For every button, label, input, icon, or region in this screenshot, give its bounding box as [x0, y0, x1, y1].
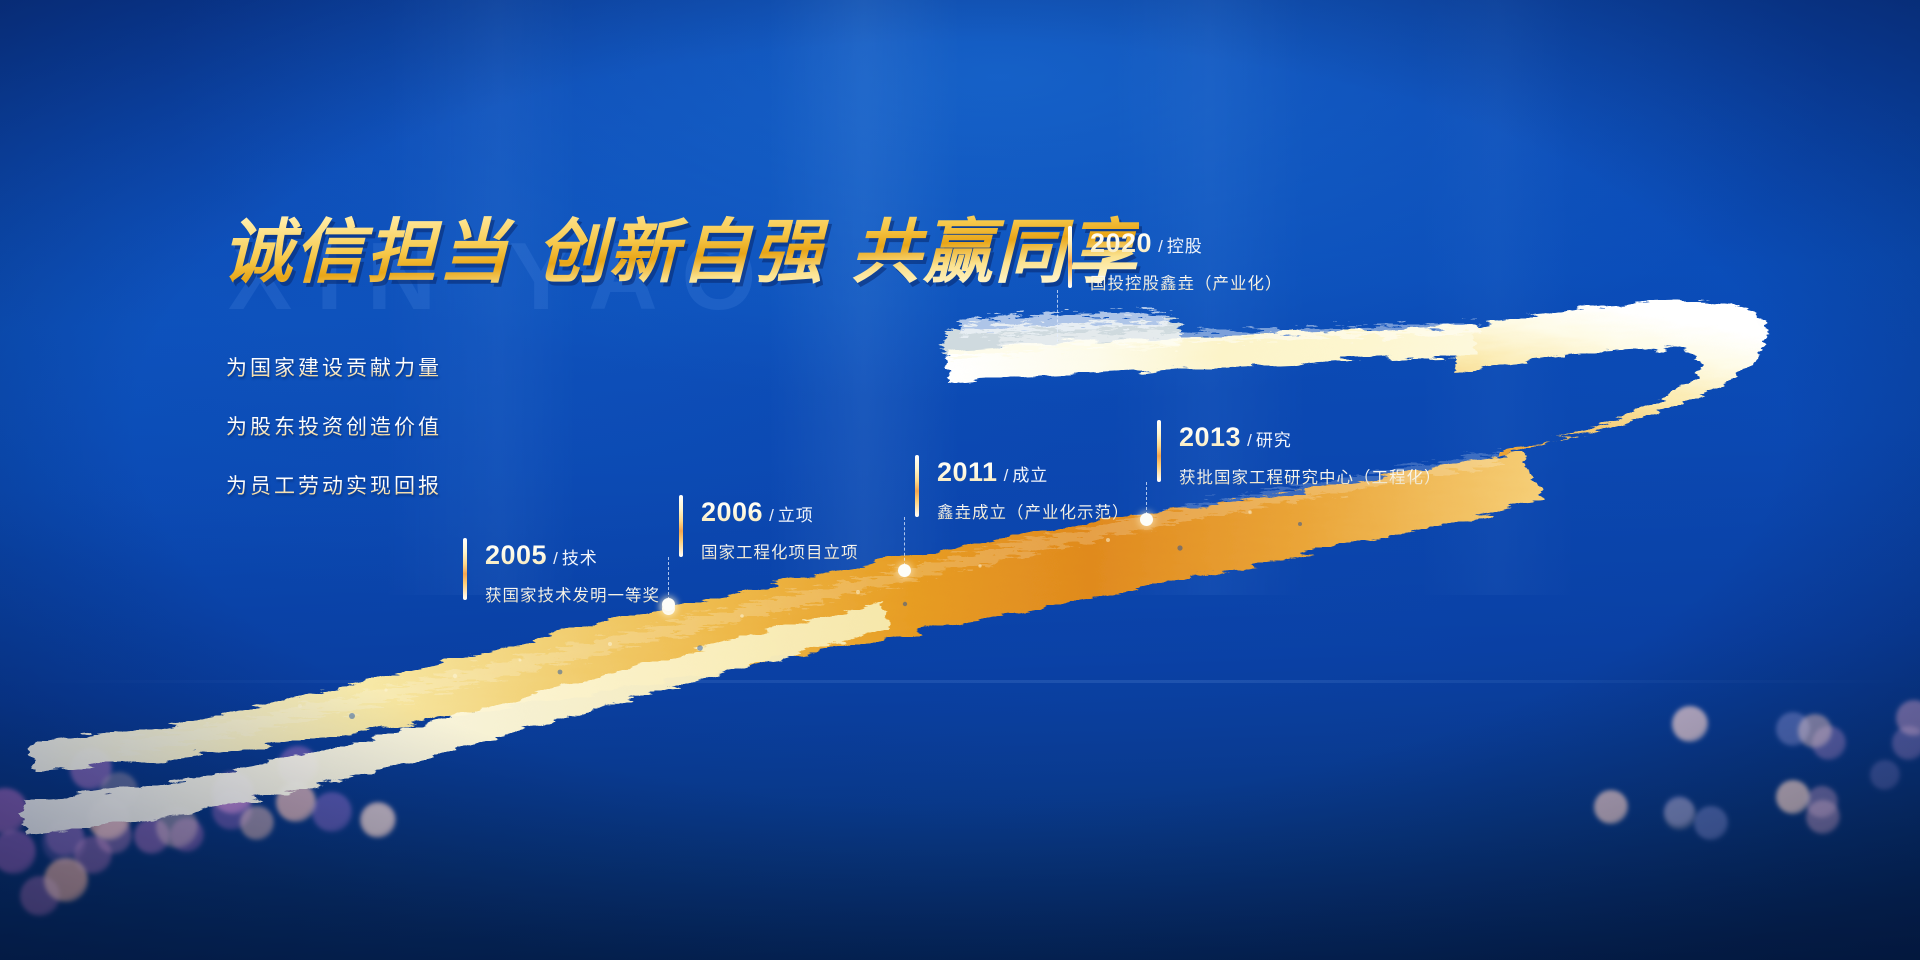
bokeh-circle	[1672, 706, 1708, 742]
bokeh-circle	[100, 772, 138, 810]
milestone-category: 技术	[562, 549, 598, 568]
milestone-separator: /	[1004, 466, 1009, 485]
milestone-year: 2013	[1179, 422, 1241, 452]
slogan-item: 为员工劳动实现回报	[226, 470, 442, 500]
bokeh-circle	[1694, 806, 1728, 840]
bokeh-circle	[74, 836, 112, 874]
page-title: 诚信担当 创新自强 共赢同享	[222, 196, 1139, 297]
milestone-description: 获批国家工程研究中心（工程化）	[1179, 464, 1442, 488]
milestone-accent-bar	[915, 455, 919, 517]
milestone-year: 2006	[701, 497, 763, 527]
milestone-accent-bar	[1068, 226, 1072, 288]
bokeh-circle	[1594, 790, 1628, 824]
bokeh-circle	[1812, 726, 1846, 760]
milestone-2006[interactable]: 2006/立项国家工程化项目立项	[679, 495, 859, 563]
milestone-category: 成立	[1012, 466, 1048, 485]
bokeh-circle	[1870, 760, 1900, 790]
milestone-accent-bar	[463, 538, 467, 600]
milestone-leader-line	[1057, 290, 1058, 342]
bokeh-circle	[1892, 726, 1920, 760]
milestone-dot[interactable]	[1140, 513, 1153, 526]
slogan-item: 为股东投资创造价值	[226, 411, 442, 441]
milestone-separator: /	[769, 506, 774, 525]
milestone-dot[interactable]	[898, 564, 911, 577]
bokeh-circle	[312, 792, 352, 832]
milestone-2020[interactable]: 2020/控股国投控股鑫垚（产业化）	[1068, 226, 1283, 294]
milestone-2013[interactable]: 2013/研究获批国家工程研究中心（工程化）	[1157, 420, 1442, 488]
bokeh-circle	[362, 804, 394, 836]
milestone-category: 立项	[778, 506, 814, 525]
bokeh-circle	[1664, 798, 1696, 830]
milestone-2005[interactable]: 2005/技术获国家技术发明一等奖	[463, 538, 660, 606]
slogan-item: 为国家建设贡献力量	[226, 352, 442, 382]
bokeh-circle	[0, 788, 28, 834]
milestone-year: 2005	[485, 540, 547, 570]
bokeh-circle	[170, 818, 204, 852]
milestone-separator: /	[1247, 431, 1252, 450]
bokeh-circle	[276, 782, 316, 822]
milestone-category: 控股	[1167, 237, 1203, 256]
milestone-accent-bar	[679, 495, 683, 557]
milestone-accent-bar	[1157, 420, 1161, 482]
bokeh-circle	[278, 746, 318, 786]
milestone-year: 2020	[1090, 228, 1152, 258]
milestone-separator: /	[553, 549, 558, 568]
milestone-description: 获国家技术发明一等奖	[485, 582, 660, 606]
bokeh-circle	[1776, 780, 1810, 814]
horizon-light-band	[0, 680, 1920, 683]
bokeh-circle	[240, 806, 274, 840]
milestone-description: 鑫垚成立（产业化示范）	[937, 499, 1130, 523]
bokeh-circle	[1806, 800, 1840, 834]
milestone-leader-line	[904, 517, 905, 571]
milestone-separator: /	[1158, 237, 1163, 256]
slogan-list: 为国家建设贡献力量 为股东投资创造价值 为员工劳动实现回报	[226, 352, 442, 529]
bokeh-circle	[0, 830, 36, 874]
milestone-description: 国投控股鑫垚（产业化）	[1090, 270, 1283, 294]
milestone-2011[interactable]: 2011/成立鑫垚成立（产业化示范）	[915, 455, 1130, 523]
milestone-category: 研究	[1256, 431, 1292, 450]
poster-canvas: XIN YAO 诚信担当 创新自强 共赢同享 为国家建设贡献力量 为股东投资创造…	[0, 0, 1920, 960]
milestone-description: 国家工程化项目立项	[701, 539, 859, 563]
milestone-year: 2011	[937, 457, 998, 487]
milestone-dot[interactable]	[662, 598, 675, 611]
